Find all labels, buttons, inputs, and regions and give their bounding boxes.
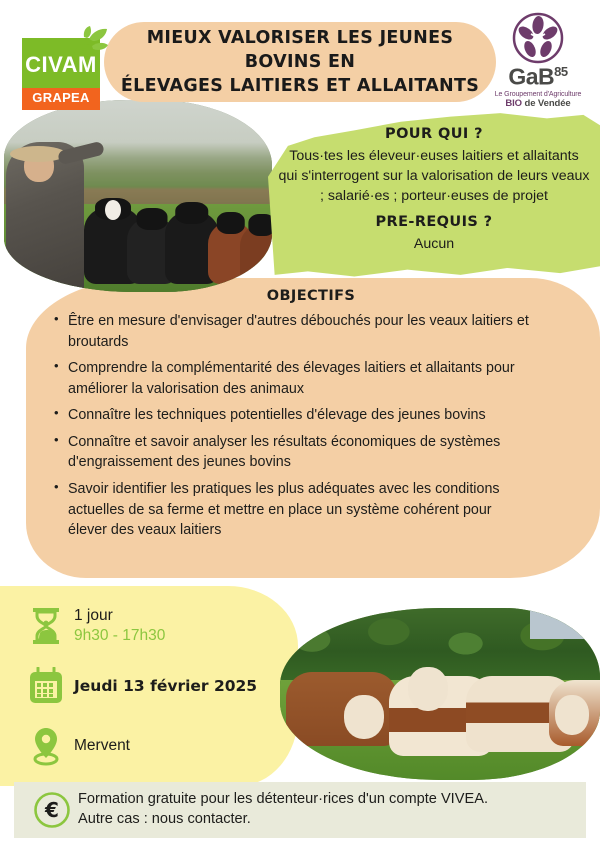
audience-heading: POUR QUI ?	[272, 126, 596, 142]
svg-text:€: €	[44, 798, 59, 822]
civam-wordmark: CIVAM	[22, 52, 100, 78]
objective-item: Savoir identifier les pratiques les plus…	[54, 479, 580, 541]
funding-note-line-2: Autre cas : nous contacter.	[78, 810, 488, 830]
photo-cow-head	[408, 667, 448, 711]
gab-flower-icon	[512, 12, 564, 64]
gab-wordmark: GaB85	[486, 65, 590, 89]
photo-farmer	[6, 142, 84, 292]
practical-info-panel: 1 jour 9h30 - 17h30	[18, 596, 288, 776]
page-title: MIEUX VALORISER LES JEUNES BOVINS EN ÉLE…	[104, 26, 496, 98]
audience-body: Tous·tes les éleveur·euses laitiers et a…	[272, 146, 596, 206]
date-text: Jeudi 13 février 2025	[74, 677, 257, 695]
prerequisite-heading: PRE-REQUIS ?	[272, 214, 596, 230]
map-pin-icon	[18, 726, 74, 766]
photo-cow-head	[344, 695, 384, 739]
civam-grapea-logo: CIVAM GRAPEA	[10, 16, 106, 104]
audience-panel: POUR QUI ? Tous·tes les éleveur·euses la…	[272, 118, 596, 255]
gab-tagline-1: Le Groupement d'Agriculture	[486, 91, 590, 98]
hours-value: 9h30 - 17h30	[74, 626, 165, 646]
location-text: Mervent	[74, 737, 130, 755]
prerequisite-body: Aucun	[272, 234, 596, 254]
objectives-list: Être en mesure d'envisager d'autres débo…	[42, 311, 580, 541]
objectives-panel: OBJECTIFS Être en mesure d'envisager d'a…	[42, 288, 580, 547]
duration-row: 1 jour 9h30 - 17h30	[18, 596, 288, 656]
hourglass-icon	[18, 606, 74, 646]
gab85-logo: GaB85 Le Groupement d'Agriculture BIO de…	[486, 12, 590, 108]
photo-cow-head	[555, 695, 589, 735]
location-row: Mervent	[18, 716, 288, 776]
title-line-1: MIEUX VALORISER LES JEUNES BOVINS EN	[147, 28, 454, 72]
photo-cow	[240, 224, 272, 284]
farmer-with-black-cattle-photo	[4, 100, 272, 292]
objective-item: Être en mesure d'envisager d'autres débo…	[54, 311, 580, 352]
objective-item: Connaître les techniques potentielles d'…	[54, 405, 580, 426]
grapea-wordmark: GRAPEA	[22, 90, 100, 105]
training-flyer: POUR QUI ? Tous·tes les éleveur·euses la…	[0, 0, 600, 849]
location-value: Mervent	[74, 737, 130, 755]
funding-note-bar: € Formation gratuite pour les détenteur·…	[14, 782, 586, 838]
photo-sky-patch	[530, 608, 600, 639]
funding-note-text: Formation gratuite pour les détenteur·ri…	[78, 790, 488, 829]
gab-tagline-2: BIO de Vendée	[486, 98, 590, 109]
duration-value: 1 jour	[74, 606, 165, 626]
objectives-heading: OBJECTIFS	[42, 288, 580, 304]
date-row: Jeudi 13 février 2025	[18, 656, 288, 716]
objective-item: Comprendre la complémentarité des élevag…	[54, 358, 580, 399]
calendar-icon	[18, 667, 74, 705]
date-value: Jeudi 13 février 2025	[74, 677, 257, 695]
red-and-white-cattle-in-pasture-photo	[280, 608, 600, 780]
duration-text: 1 jour 9h30 - 17h30	[74, 606, 165, 646]
objective-item: Connaître et savoir analyser les résulta…	[54, 432, 580, 473]
euro-icon: €	[26, 791, 78, 829]
flyer-title-banner: MIEUX VALORISER LES JEUNES BOVINS EN ÉLE…	[104, 22, 496, 102]
funding-note-line-1: Formation gratuite pour les détenteur·ri…	[78, 790, 488, 810]
title-line-2: ÉLEVAGES LAITIERS ET ALLAITANTS	[121, 76, 479, 96]
